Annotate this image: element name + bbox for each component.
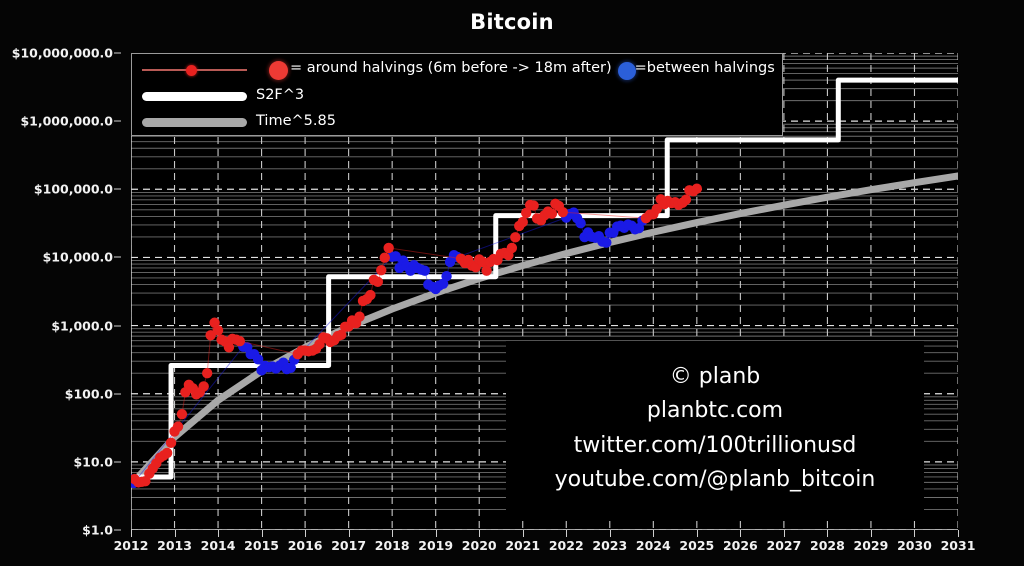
watermark-line-2: planbtc.com: [647, 394, 783, 428]
page-title: Bitcoin: [0, 10, 1024, 34]
y-axis-tick-label: $1,000,000.0: [20, 114, 113, 129]
y-axis-tick-mark: [114, 530, 121, 531]
x-axis-tick-mark: [436, 530, 437, 537]
y-axis-tick-label: $10,000,000.0: [12, 46, 113, 61]
y-axis-tick-mark: [114, 393, 121, 394]
y-axis-tick-label: $10,000.0: [43, 250, 113, 265]
x-axis-tick-mark: [479, 530, 480, 537]
x-axis-tick-label: 2020: [462, 538, 497, 553]
x-axis-tick-mark: [784, 530, 785, 537]
x-axis-tick-label: 2014: [201, 538, 236, 553]
x-axis-tick-label: 2024: [636, 538, 671, 553]
legend-label-time: Time^5.85: [256, 113, 336, 129]
x-axis-tick-label: 2031: [941, 538, 976, 553]
legend-row-s2f: S2F^3: [132, 83, 782, 110]
x-axis-tick-mark: [305, 530, 306, 537]
legend-label-red: = around halvings (6m before -> 18m afte…: [290, 60, 612, 76]
y-axis-tick-mark: [114, 257, 121, 258]
y-axis-tick-mark: [114, 325, 121, 326]
legend-row-time: Time^5.85: [132, 109, 782, 136]
x-axis-tick-mark: [914, 530, 915, 537]
x-axis-tick-mark: [175, 530, 176, 537]
legend-label-blue: =between halvings: [635, 60, 775, 76]
white-line-swatch-icon: [142, 92, 247, 101]
blue-series-swatch-icon: [618, 62, 636, 80]
x-axis-tick-label: 2023: [592, 538, 627, 553]
legend-row-markers: = around halvings (6m before -> 18m afte…: [132, 56, 782, 83]
watermark-line-4: youtube.com/@planb_bitcoin: [555, 463, 876, 497]
y-axis-tick-mark: [114, 121, 121, 122]
chart-root: Bitcoin $1.0$10.0$100.0$1,000.0$10,000.0…: [0, 0, 1024, 566]
x-axis-tick-label: 2025: [679, 538, 714, 553]
watermark-line-3: twitter.com/100trillionusd: [574, 429, 857, 463]
x-axis-tick-mark: [349, 530, 350, 537]
y-axis-tick-mark: [114, 189, 121, 190]
chart-legend: = around halvings (6m before -> 18m afte…: [131, 53, 783, 136]
x-axis-tick-mark: [262, 530, 263, 537]
x-axis-tick-label: 2029: [854, 538, 889, 553]
x-axis-tick-label: 2013: [157, 538, 192, 553]
y-axis-tick-mark: [114, 53, 121, 54]
y-axis-tick-label: $10.0: [73, 454, 113, 469]
x-axis-tick-label: 2018: [375, 538, 410, 553]
y-axis-tick-label: $100.0: [65, 386, 113, 401]
x-axis-tick-label: 2030: [897, 538, 932, 553]
x-axis-tick-mark: [697, 530, 698, 537]
x-axis-tick-label: 2012: [114, 538, 149, 553]
x-axis-tick-mark: [871, 530, 872, 537]
x-axis-tick-mark: [958, 530, 959, 537]
x-axis-tick-label: 2022: [549, 538, 584, 553]
x-axis-tick-label: 2016: [288, 538, 323, 553]
watermark-line-1: © planb: [670, 360, 760, 394]
x-axis-tick-mark: [827, 530, 828, 537]
y-axis-tick-label: $100,000.0: [34, 182, 113, 197]
x-axis-tick-mark: [392, 530, 393, 537]
x-axis-tick-mark: [523, 530, 524, 537]
x-axis-tick-label: 2017: [331, 538, 366, 553]
y-axis-tick-label: $1,000.0: [51, 318, 113, 333]
x-axis-tick-label: 2027: [766, 538, 801, 553]
x-axis-tick-mark: [610, 530, 611, 537]
x-axis-tick-mark: [740, 530, 741, 537]
x-axis-tick-label: 2019: [418, 538, 453, 553]
legend-label-s2f: S2F^3: [256, 87, 304, 103]
x-axis-tick-mark: [131, 530, 132, 537]
gray-line-swatch-icon: [142, 118, 247, 127]
x-axis-tick-label: 2015: [244, 538, 279, 553]
x-axis-tick-label: 2026: [723, 538, 758, 553]
red-series-swatch-icon: [269, 61, 288, 80]
y-axis-tick-label: $1.0: [82, 523, 113, 538]
x-axis-tick-mark: [218, 530, 219, 537]
red-dot-marker-icon: [186, 65, 197, 76]
watermark-block: © planb planbtc.com twitter.com/100trill…: [506, 341, 924, 516]
x-axis-tick-label: 2028: [810, 538, 845, 553]
y-axis-tick-mark: [114, 461, 121, 462]
x-axis-tick-label: 2021: [505, 538, 540, 553]
x-axis-tick-mark: [653, 530, 654, 537]
x-axis-tick-mark: [566, 530, 567, 537]
